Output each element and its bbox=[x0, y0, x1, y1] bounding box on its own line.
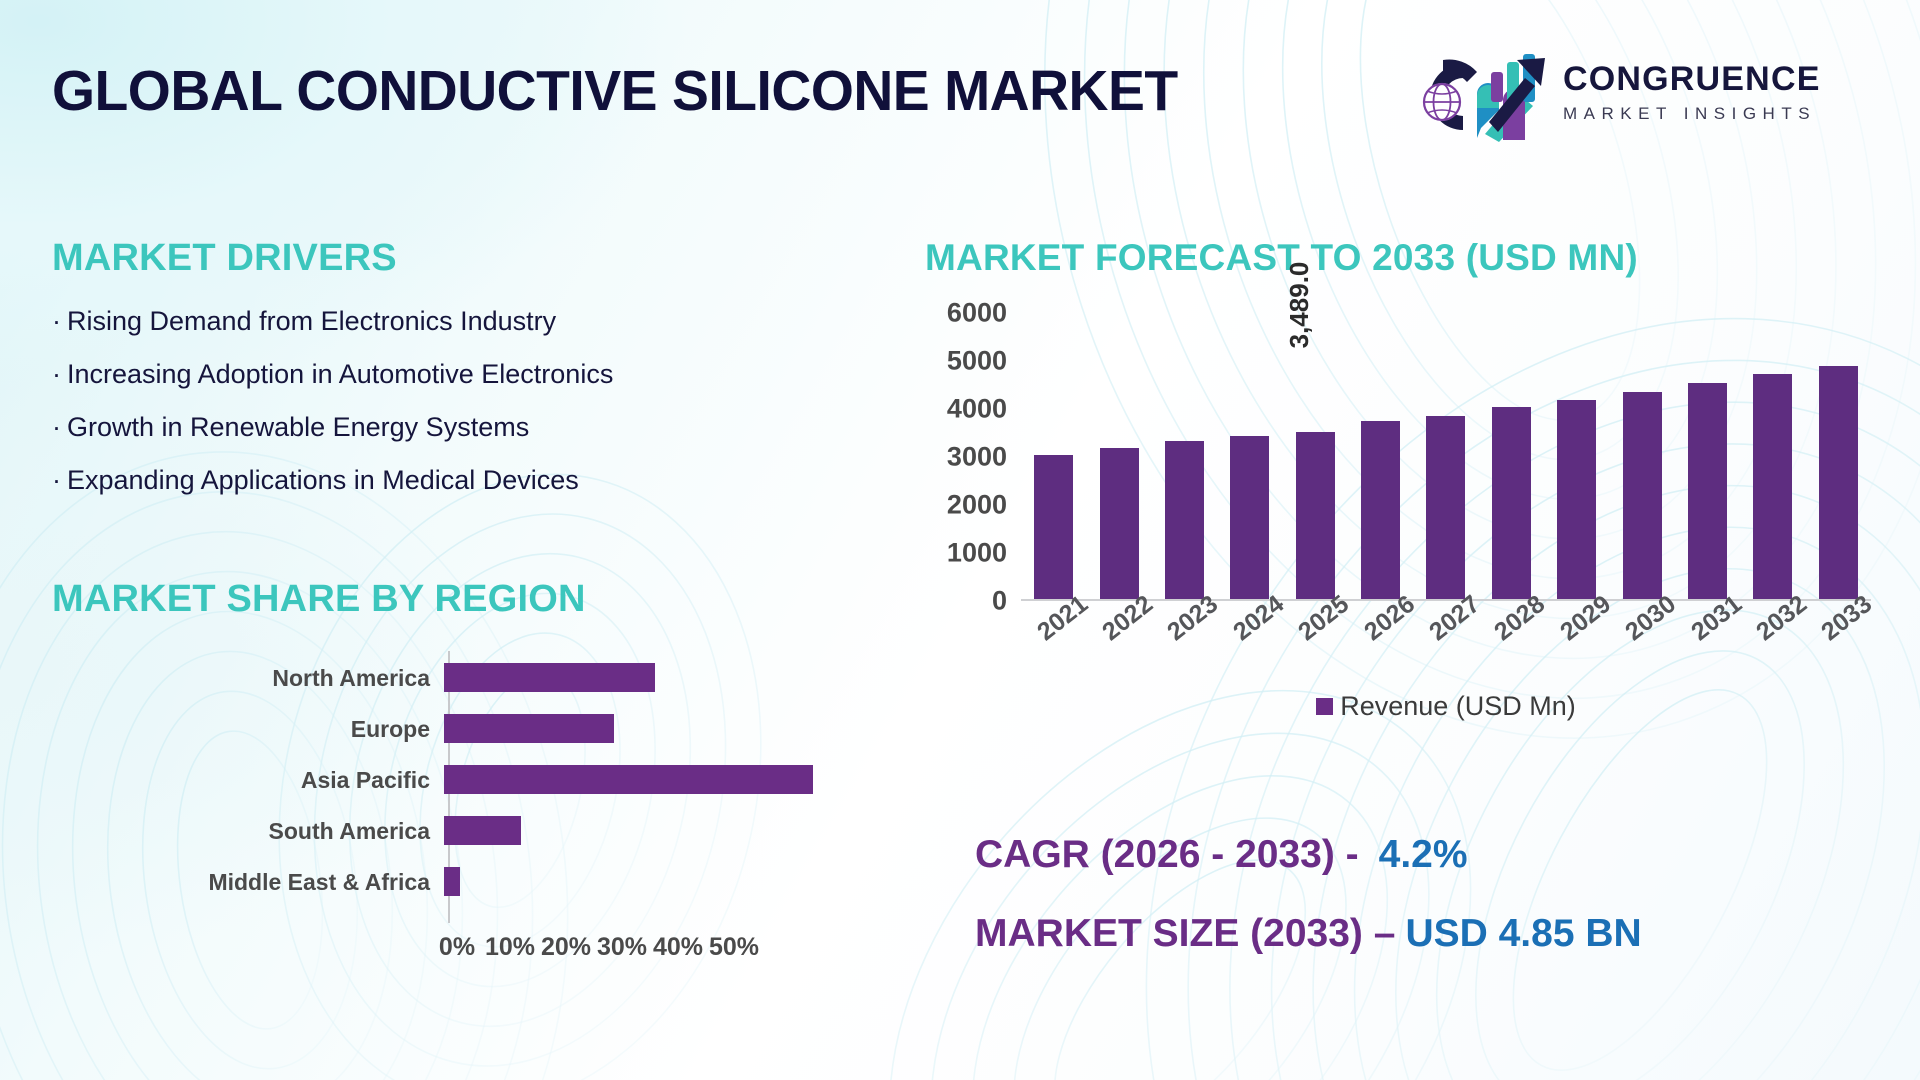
forecast-y-axis-labels: 0100020003000400050006000 bbox=[925, 311, 1007, 601]
cagr-label: CAGR (2026 - 2033) - bbox=[975, 833, 1359, 876]
forecast-bar bbox=[1426, 416, 1465, 599]
market-forecast-bar-chart: 0100020003000400050006000 20212022202320… bbox=[925, 311, 1885, 651]
bullet-icon: · bbox=[52, 359, 61, 389]
forecast-bar-value-label: 3,489.0 bbox=[1284, 262, 1315, 349]
page-title: GLOBAL CONDUCTIVE SILICONE MARKET bbox=[52, 58, 1178, 124]
list-item: ·Growth in Renewable Energy Systems bbox=[52, 414, 613, 441]
share-tick-label: 20% bbox=[538, 933, 594, 962]
share-bar-track bbox=[442, 753, 857, 807]
cm-globe-growth-logo-icon bbox=[1385, 50, 1550, 144]
forecast-bar-slot bbox=[1348, 311, 1413, 599]
share-tick-label: 30% bbox=[594, 933, 650, 962]
infographic-canvas: GLOBAL CONDUCTIVE SILICONE MARKET bbox=[0, 0, 1920, 1080]
legend-swatch-icon bbox=[1316, 698, 1333, 715]
market-forecast-section: MARKET FORECAST TO 2033 (USD MN) 0100020… bbox=[925, 237, 1885, 651]
logo-company-name: CONGRUENCE bbox=[1563, 62, 1821, 96]
key-stats: CAGR (2026 - 2033) -4.2% MARKET SIZE (20… bbox=[975, 835, 1642, 993]
share-tick-label: 50% bbox=[706, 933, 762, 962]
share-bar-track bbox=[442, 651, 857, 705]
share-category-label: Europe bbox=[52, 716, 442, 743]
driver-label: Increasing Adoption in Automotive Electr… bbox=[67, 359, 613, 389]
market-size-label: MARKET SIZE (2033) – bbox=[975, 912, 1395, 955]
share-bar-track bbox=[442, 804, 857, 858]
forecast-y-tick-label: 3000 bbox=[925, 442, 1007, 473]
share-tick-label: 10% bbox=[482, 933, 538, 962]
brand-logo[interactable]: CONGRUENCE MARKET INSIGHTS bbox=[1385, 48, 1875, 148]
header: GLOBAL CONDUCTIVE SILICONE MARKET bbox=[0, 0, 1920, 175]
share-bar-track bbox=[442, 702, 857, 756]
forecast-bar bbox=[1557, 400, 1596, 599]
share-chart-row: Europe bbox=[52, 702, 862, 756]
share-bar bbox=[444, 816, 521, 845]
forecast-bar bbox=[1753, 374, 1792, 599]
bullet-icon: · bbox=[52, 465, 61, 495]
forecast-bar-slot bbox=[1479, 311, 1544, 599]
forecast-bar bbox=[1361, 421, 1400, 599]
cagr-value: 4.2% bbox=[1379, 833, 1468, 876]
share-chart-row: Middle East & Africa bbox=[52, 855, 862, 909]
forecast-plot-area: 20212022202320243,489.020252026202720282… bbox=[1021, 311, 1871, 601]
forecast-bar-slot bbox=[1152, 311, 1217, 599]
logo-tagline: MARKET INSIGHTS bbox=[1563, 105, 1821, 122]
forecast-y-tick-label: 5000 bbox=[925, 346, 1007, 377]
market-size-stat: MARKET SIZE (2033) –USD 4.85 BN bbox=[975, 914, 1642, 953]
bullet-icon: · bbox=[52, 306, 61, 336]
forecast-bar bbox=[1165, 441, 1204, 599]
legend-label: Revenue (USD Mn) bbox=[1340, 691, 1576, 722]
forecast-bar-slot bbox=[1544, 311, 1609, 599]
forecast-y-tick-label: 0 bbox=[925, 586, 1007, 617]
driver-label: Rising Demand from Electronics Industry bbox=[67, 306, 556, 336]
market-drivers-list: ·Rising Demand from Electronics Industry… bbox=[52, 308, 613, 494]
share-category-label: North America bbox=[52, 665, 442, 692]
share-chart-row: Asia Pacific bbox=[52, 753, 862, 807]
driver-label: Growth in Renewable Energy Systems bbox=[67, 412, 529, 442]
logo-text: CONGRUENCE MARKET INSIGHTS bbox=[1563, 62, 1821, 122]
bullet-icon: · bbox=[52, 412, 61, 442]
market-share-section: MARKET SHARE BY REGION North AmericaEuro… bbox=[52, 578, 862, 951]
share-category-label: Middle East & Africa bbox=[52, 869, 442, 896]
share-category-label: South America bbox=[52, 818, 442, 845]
forecast-bar-slot bbox=[1675, 311, 1740, 599]
market-drivers-section: MARKET DRIVERS ·Rising Demand from Elect… bbox=[52, 237, 613, 520]
share-tick-label: 40% bbox=[650, 933, 706, 962]
list-item: ·Expanding Applications in Medical Devic… bbox=[52, 467, 613, 494]
forecast-bar bbox=[1100, 448, 1139, 599]
list-item: ·Increasing Adoption in Automotive Elect… bbox=[52, 361, 613, 388]
share-chart-row: North America bbox=[52, 651, 862, 705]
share-chart-tick-labels: 0%10%20%30%40%50% bbox=[432, 933, 762, 962]
driver-label: Expanding Applications in Medical Device… bbox=[67, 465, 579, 495]
forecast-bar bbox=[1034, 455, 1073, 599]
forecast-y-tick-label: 2000 bbox=[925, 490, 1007, 521]
share-category-label: Asia Pacific bbox=[52, 767, 442, 794]
market-drivers-heading: MARKET DRIVERS bbox=[52, 237, 613, 280]
share-bar bbox=[444, 765, 813, 794]
forecast-y-tick-label: 4000 bbox=[925, 394, 1007, 425]
forecast-bar-slot bbox=[1609, 311, 1674, 599]
forecast-y-tick-label: 1000 bbox=[925, 538, 1007, 569]
share-bar bbox=[444, 714, 614, 743]
forecast-bar-slot: 3,489.0 bbox=[1283, 311, 1348, 599]
forecast-bar bbox=[1230, 436, 1269, 599]
forecast-bar-slot bbox=[1806, 311, 1871, 599]
forecast-bar bbox=[1623, 392, 1662, 599]
forecast-bar-slot bbox=[1021, 311, 1086, 599]
forecast-legend: Revenue (USD Mn) bbox=[1021, 691, 1871, 722]
list-item: ·Rising Demand from Electronics Industry bbox=[52, 308, 613, 335]
forecast-bar-slot bbox=[1086, 311, 1151, 599]
forecast-bar bbox=[1819, 366, 1858, 599]
cagr-stat: CAGR (2026 - 2033) -4.2% bbox=[975, 835, 1642, 874]
forecast-y-tick-label: 6000 bbox=[925, 298, 1007, 329]
share-chart-row: South America bbox=[52, 804, 862, 858]
market-share-bar-chart: North AmericaEuropeAsia PacificSouth Ame… bbox=[52, 651, 862, 951]
forecast-bar-slot bbox=[1413, 311, 1478, 599]
share-tick-label: 0% bbox=[432, 933, 482, 962]
forecast-bar bbox=[1688, 383, 1727, 599]
forecast-bar: 3,489.0 bbox=[1296, 432, 1335, 599]
share-bar bbox=[444, 663, 655, 692]
forecast-bar-slot bbox=[1740, 311, 1805, 599]
forecast-bar-slot bbox=[1217, 311, 1282, 599]
market-forecast-heading: MARKET FORECAST TO 2033 (USD MN) bbox=[925, 237, 1885, 279]
forecast-bar bbox=[1492, 407, 1531, 599]
market-size-value: USD 4.85 BN bbox=[1405, 912, 1641, 955]
share-bar bbox=[444, 867, 460, 896]
share-bar-track bbox=[442, 855, 857, 909]
market-share-heading: MARKET SHARE BY REGION bbox=[52, 578, 862, 621]
